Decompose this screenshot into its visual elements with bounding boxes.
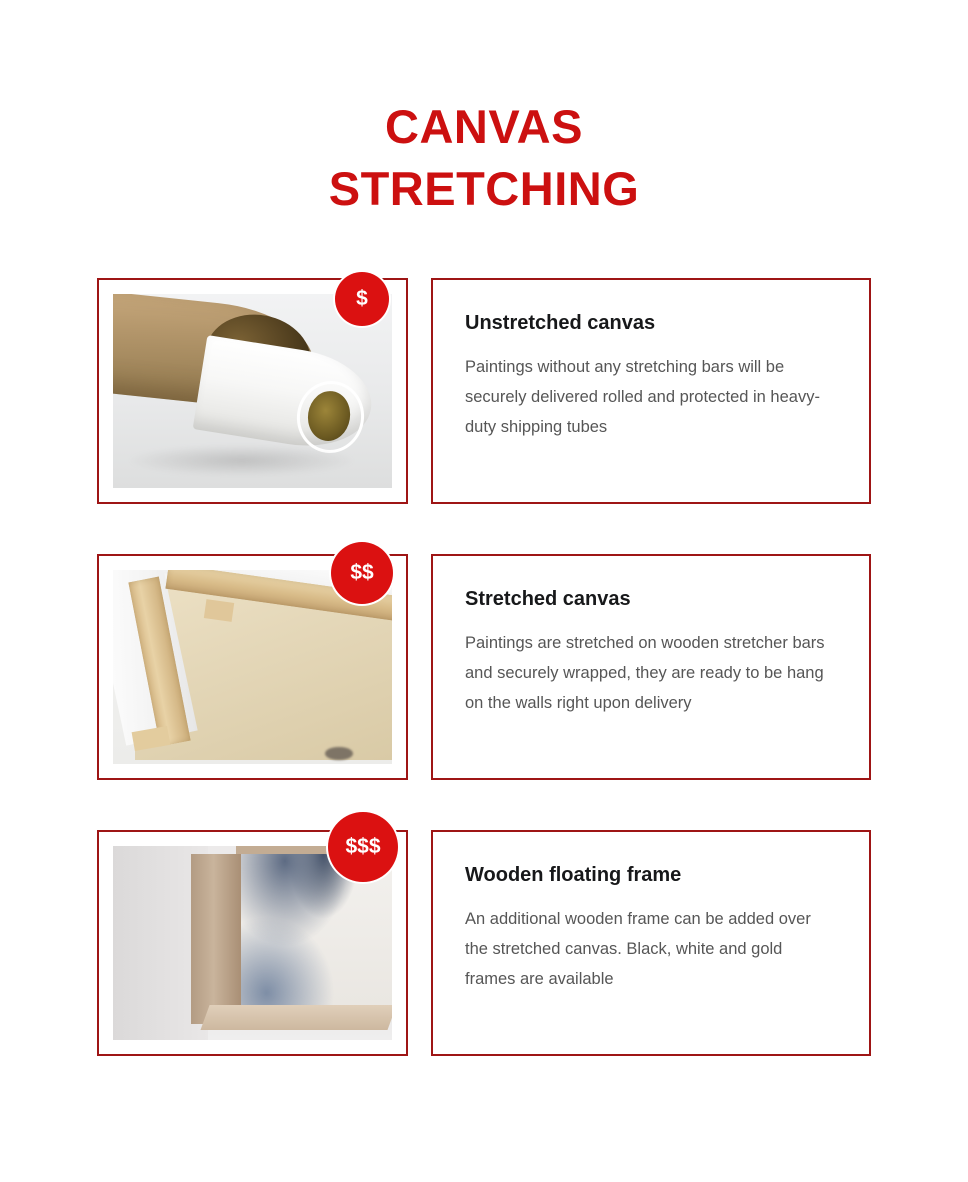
option-description: Paintings are stretched on wooden stretc…	[465, 628, 837, 718]
option-description: An additional wooden frame can be added …	[465, 904, 837, 994]
option-heading: Unstretched canvas	[465, 310, 837, 336]
price-badge: $	[335, 272, 389, 326]
option-row-wooden-floating-frame: $$$ Wooden floating frame An additional …	[0, 830, 968, 1056]
option-row-stretched-canvas: $$ Stretched canvas Paintings are stretc…	[0, 554, 968, 780]
option-heading: Stretched canvas	[465, 586, 837, 612]
price-badge: $$$	[328, 812, 398, 882]
option-description: Paintings without any stretching bars wi…	[465, 352, 837, 442]
page-title-line-1: CANVAS	[0, 96, 968, 158]
option-text-card: Wooden floating frame An additional wood…	[431, 830, 871, 1056]
option-row-unstretched-canvas: $ Unstretched canvas Paintings without a…	[0, 278, 968, 504]
page-title: CANVAS STRETCHING	[0, 96, 968, 220]
option-text-card: Stretched canvas Paintings are stretched…	[431, 554, 871, 780]
price-badge: $$	[331, 542, 393, 604]
option-list: $ Unstretched canvas Paintings without a…	[0, 278, 968, 1106]
page-title-line-2: STRETCHING	[0, 158, 968, 220]
option-text-card: Unstretched canvas Paintings without any…	[431, 278, 871, 504]
option-heading: Wooden floating frame	[465, 862, 837, 888]
canvas-stretching-infographic: CANVAS STRETCHING $ Unstretched canvas P…	[0, 0, 968, 1182]
